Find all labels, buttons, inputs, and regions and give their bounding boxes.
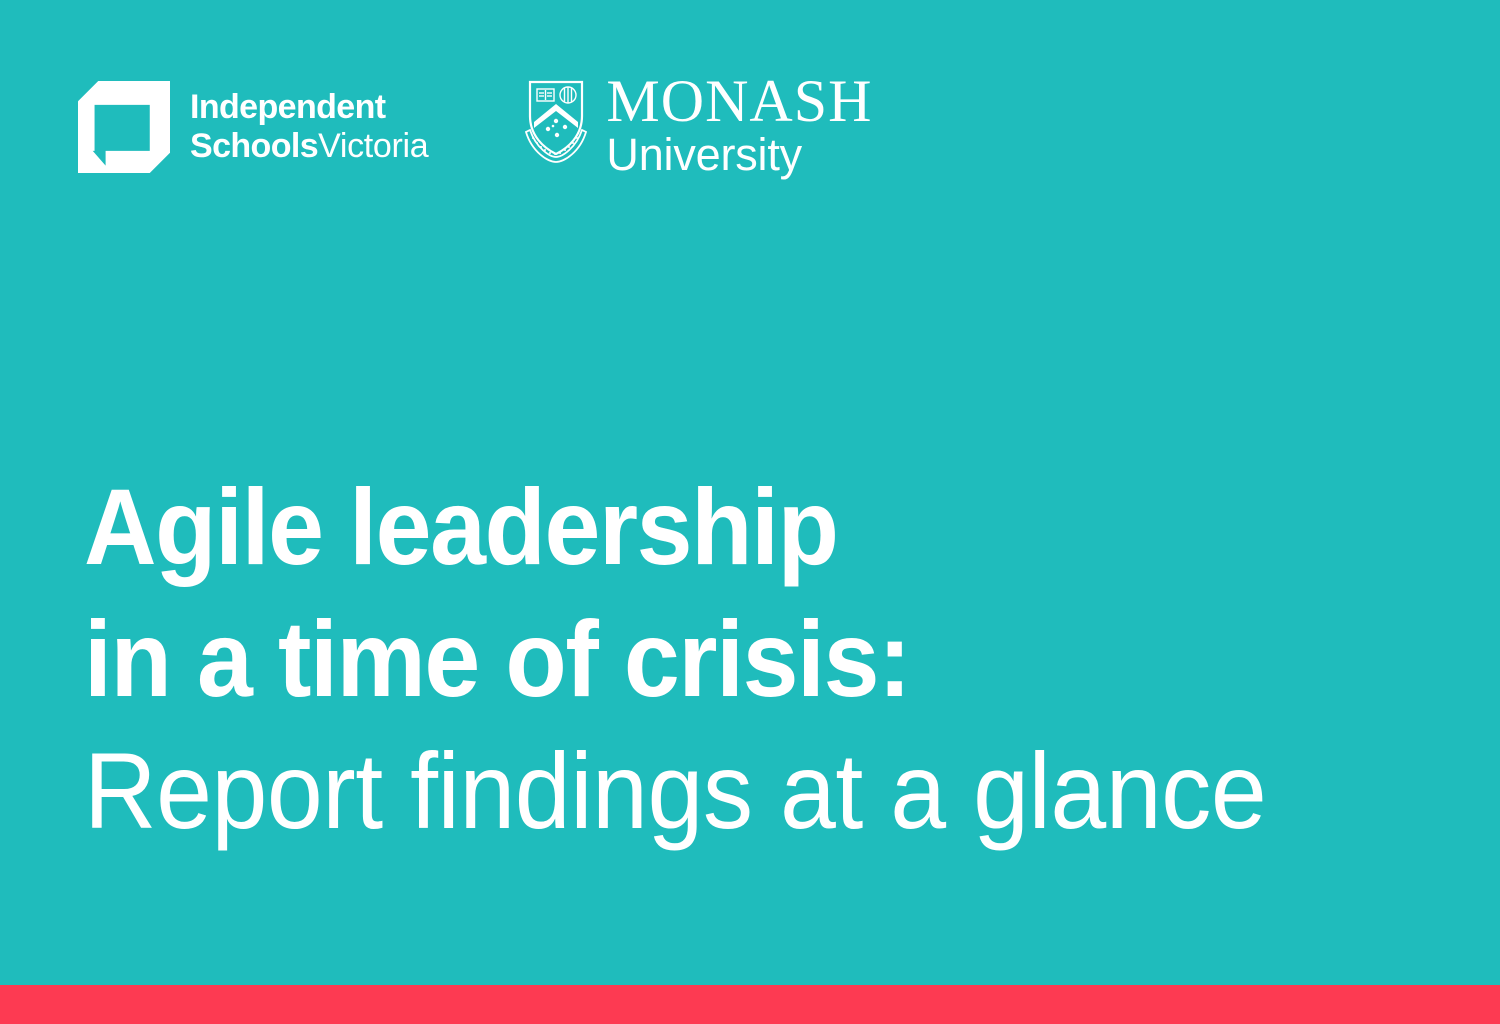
isv-wordmark-schools: Schools [190,127,318,165]
page-title-line-1: Agile leadership [84,461,1266,593]
page-title-line-3: Report findings at a glance [84,725,1266,857]
monash-wordmark-subtitle: University [606,131,872,178]
monash-wordmark-name: MONASH [606,74,872,129]
page-title-line-2: in a time of crisis: [84,593,1266,725]
isv-speech-square-mark-icon [78,81,170,173]
monash-university-logo[interactable]: MONASH University [524,74,872,184]
footer-accent-bar [0,985,1500,1024]
title-slide: Independent SchoolsVictoria [0,0,1500,1024]
monash-wordmark: MONASH University [606,74,872,178]
independent-schools-victoria-logo[interactable]: Independent SchoolsVictoria [78,74,428,174]
isv-wordmark-victoria: Victoria [318,127,428,165]
logo-row: Independent SchoolsVictoria [78,74,872,184]
page-title: Agile leadership in a time of crisis: Re… [84,461,1355,857]
isv-wordmark-line-2: SchoolsVictoria [190,129,428,163]
isv-wordmark-line-1: Independent [190,90,428,124]
isv-wordmark: Independent SchoolsVictoria [190,90,428,163]
monash-coat-of-arms-crest-icon [524,76,588,164]
